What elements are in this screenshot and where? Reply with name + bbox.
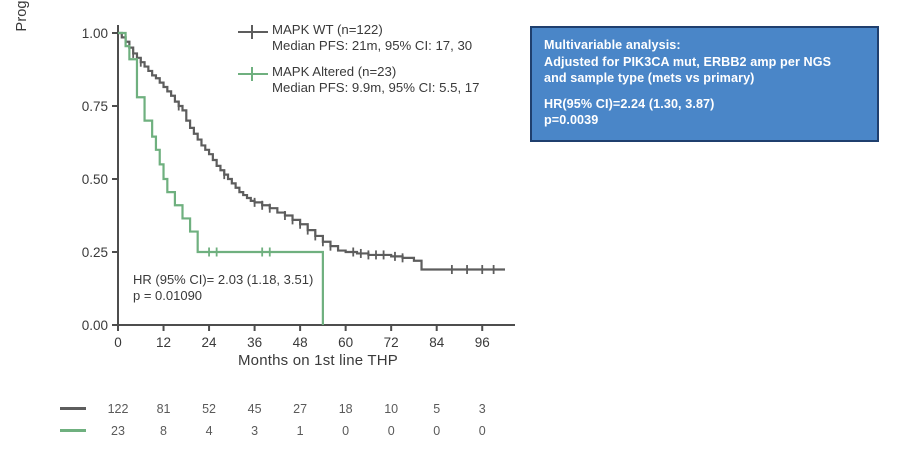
risk-count: 3 — [465, 398, 499, 420]
risk-row: 12281524527181053 — [60, 398, 480, 420]
multivariable-analysis-box: Multivariable analysis: Adjusted for PIK… — [530, 26, 879, 142]
x-tick-label: 24 — [202, 335, 218, 350]
hazard-ratio-annotation: HR (95% CI)= 2.03 (1.18, 3.51) p = 0.010… — [133, 272, 313, 304]
risk-count: 5 — [420, 398, 454, 420]
risk-count: 0 — [374, 420, 408, 442]
risk-count: 81 — [147, 398, 181, 420]
legend-label-altered: MAPK Altered (n=23) — [272, 64, 396, 79]
risk-count: 4 — [192, 420, 226, 442]
x-tick-label: 96 — [475, 335, 490, 350]
risk-count: 8 — [147, 420, 181, 442]
x-tick-label: 36 — [247, 335, 262, 350]
x-axis-label: Months on 1st line THP — [118, 352, 518, 369]
numbers-at-risk-table: 122815245271810532384310000 — [60, 398, 480, 442]
risk-row: 2384310000 — [60, 420, 480, 442]
info-line-2: Adjusted for PIK3CA mut, ERBB2 amp per N… — [544, 54, 865, 71]
info-line-3: and sample type (mets vs primary) — [544, 70, 865, 87]
risk-count: 3 — [238, 420, 272, 442]
risk-count: 0 — [329, 420, 363, 442]
risk-count: 23 — [101, 420, 135, 442]
risk-row-color-swatch — [60, 429, 86, 432]
risk-count: 0 — [465, 420, 499, 442]
risk-count: 27 — [283, 398, 317, 420]
legend-item-altered: MAPK Altered (n=23) Median PFS: 9.9m, 95… — [238, 64, 518, 95]
x-tick-label: 72 — [384, 335, 399, 350]
hr-line-2: p = 0.01090 — [133, 288, 202, 303]
risk-count: 0 — [420, 420, 454, 442]
risk-count: 18 — [329, 398, 363, 420]
x-tick-label: 0 — [114, 335, 122, 350]
y-tick-label: 1.00 — [82, 26, 108, 41]
risk-count: 1 — [283, 420, 317, 442]
y-tick-label: 0.00 — [82, 318, 108, 333]
legend-censor-marker-icon — [238, 24, 272, 40]
legend-sub-wt: Median PFS: 21m, 95% CI: 17, 30 — [272, 38, 472, 53]
legend-text-wt: MAPK WT (n=122) Median PFS: 21m, 95% CI:… — [272, 22, 472, 53]
legend-text-altered: MAPK Altered (n=23) Median PFS: 9.9m, 95… — [272, 64, 479, 95]
x-tick-label: 60 — [338, 335, 353, 350]
x-tick-label: 12 — [156, 335, 171, 350]
y-tick-label: 0.75 — [82, 99, 108, 114]
legend-label-wt: MAPK WT (n=122) — [272, 22, 383, 37]
y-axis-label: Progression-free survival — [14, 0, 30, 60]
risk-row-color-swatch — [60, 407, 86, 410]
info-line-4: HR(95% CI)=2.24 (1.30, 3.87) — [544, 96, 865, 113]
chart-legend: MAPK WT (n=122) Median PFS: 21m, 95% CI:… — [238, 22, 518, 106]
risk-count: 45 — [238, 398, 272, 420]
risk-count: 122 — [101, 398, 135, 420]
info-line-1: Multivariable analysis: — [544, 37, 865, 54]
km-figure: 0.000.250.500.751.0001224364860728496 Pr… — [0, 0, 904, 458]
y-tick-label: 0.25 — [82, 245, 108, 260]
x-tick-label: 48 — [293, 335, 308, 350]
info-line-5: p=0.0039 — [544, 112, 865, 129]
legend-sub-altered: Median PFS: 9.9m, 95% CI: 5.5, 17 — [272, 80, 479, 95]
legend-censor-marker-icon — [238, 66, 272, 82]
info-spacer — [544, 87, 865, 96]
legend-item-wt: MAPK WT (n=122) Median PFS: 21m, 95% CI:… — [238, 22, 518, 53]
y-tick-label: 0.50 — [82, 172, 108, 187]
x-tick-label: 84 — [429, 335, 445, 350]
risk-count: 52 — [192, 398, 226, 420]
risk-count: 10 — [374, 398, 408, 420]
hr-line-1: HR (95% CI)= 2.03 (1.18, 3.51) — [133, 272, 313, 287]
